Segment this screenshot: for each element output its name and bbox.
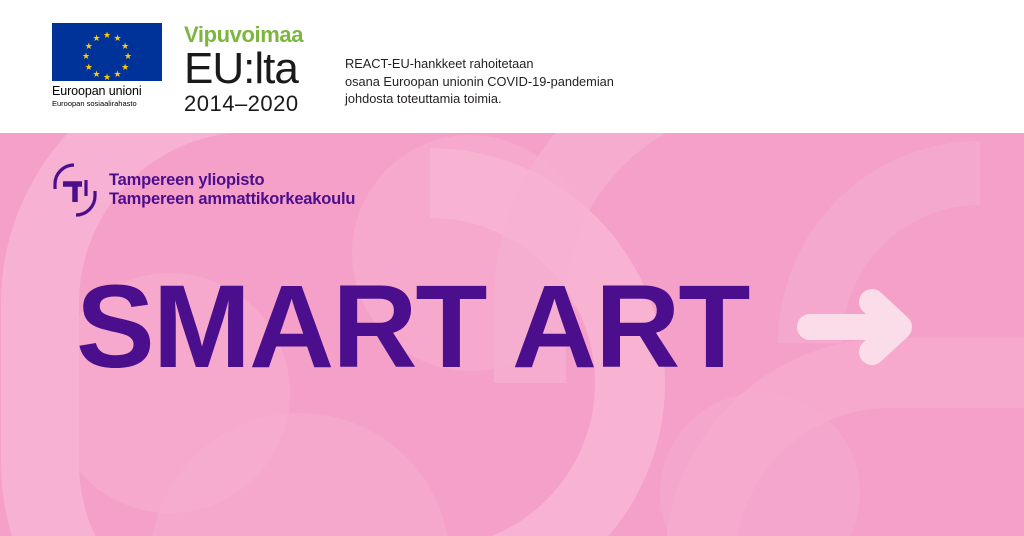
funding-statement-line-2: osana Euroopan unionin COVID-19-pandemia… xyxy=(345,73,614,91)
tuni-logo-mark-icon xyxy=(52,162,98,218)
funding-statement-line-3: johdosta toteuttamia toimia. xyxy=(345,90,614,108)
headline-row: SMART ART xyxy=(76,273,924,382)
eu-logo-caption-primary: Euroopan unioni xyxy=(52,84,168,98)
organization-name: Tampereen yliopisto Tampereen ammattikor… xyxy=(109,171,355,209)
eu-funding-bar: ★ ★ ★ ★ ★ ★ ★ ★ ★ ★ ★ ★ Euroopan unioni … xyxy=(0,0,1024,133)
eu-flag-icon: ★ ★ ★ ★ ★ ★ ★ ★ ★ ★ ★ ★ xyxy=(52,23,162,81)
vipuvoimaa-eulta: EU:lta xyxy=(184,47,303,92)
organization-name-line-2: Tampereen ammattikorkeakoulu xyxy=(109,190,355,209)
hero-section: Tampereen yliopisto Tampereen ammattikor… xyxy=(0,133,1024,536)
funding-statement: REACT-EU-hankkeet rahoitetaan osana Euro… xyxy=(345,55,614,108)
vipuvoimaa-logo: Vipuvoimaa EU:lta 2014–2020 xyxy=(184,24,303,115)
organization-name-line-1: Tampereen yliopisto xyxy=(109,171,355,190)
eu-logo-caption-secondary: Euroopan sosiaalirahasto xyxy=(52,99,168,108)
vipuvoimaa-word: Vipuvoimaa xyxy=(184,24,303,46)
tampere-universities-logo: Tampereen yliopisto Tampereen ammattikor… xyxy=(52,162,355,218)
page-title: SMART ART xyxy=(76,273,748,382)
eu-logo: ★ ★ ★ ★ ★ ★ ★ ★ ★ ★ ★ ★ Euroopan unioni … xyxy=(52,23,168,108)
smart-art-banner: ★ ★ ★ ★ ★ ★ ★ ★ ★ ★ ★ ★ Euroopan unioni … xyxy=(0,0,1024,536)
vipuvoimaa-years: 2014–2020 xyxy=(184,93,303,115)
funding-statement-line-1: REACT-EU-hankkeet rahoitetaan xyxy=(345,55,614,73)
arrow-right-icon xyxy=(796,288,924,366)
